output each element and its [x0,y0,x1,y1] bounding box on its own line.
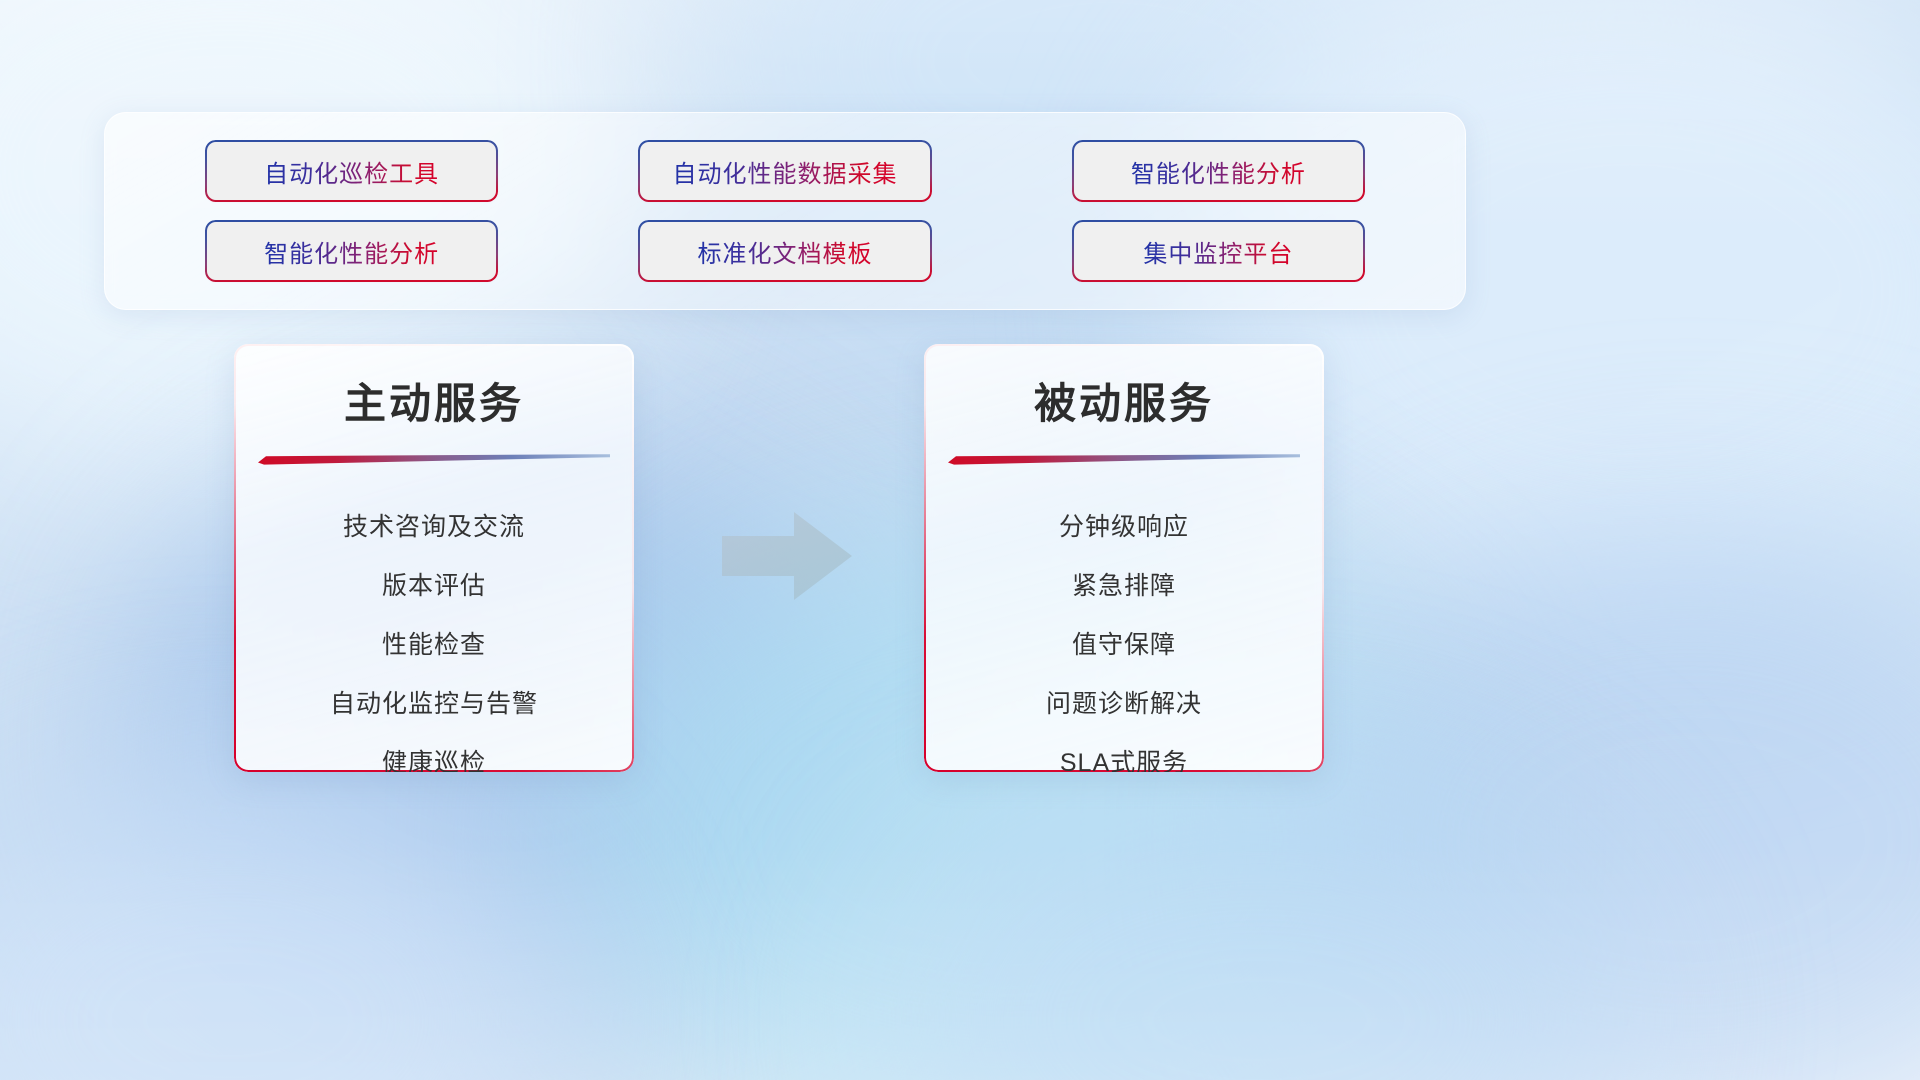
tag-label: 标准化文档模板 [697,234,872,269]
capability-tag-panel: 自动化巡检工具 自动化性能数据采集 智能化性能分析 智能化性能分析 标准化文档模… [104,112,1466,310]
tag-pill-2[interactable]: 自动化性能数据采集 [640,142,930,200]
tag-pill-5[interactable]: 标准化文档模板 [640,222,930,280]
card-title: 被动服务 [924,370,1324,431]
divider-bar-icon [948,453,1300,465]
card-divider [948,453,1300,465]
tag-pill-1[interactable]: 自动化巡检工具 [207,142,497,200]
service-card-reactive[interactable]: 被动服务 分钟级响应 紧急排障 值守保障 问题诊断解决 [924,344,1324,772]
tag-label: 自动化巡检工具 [264,154,439,189]
service-item-list: 分钟级响应 紧急排障 值守保障 问题诊断解决 SLA式服务 [924,495,1324,772]
tag-label: 智能化性能分析 [1131,154,1306,189]
list-item[interactable]: SLA式服务 [924,731,1324,772]
service-item-list: 技术咨询及交流 版本评估 性能检查 自动化监控与告警 健康巡检 [234,495,634,772]
list-item[interactable]: 性能检查 [234,613,634,672]
list-item[interactable]: 自动化监控与告警 [234,672,634,731]
arrow-right-icon [716,506,856,606]
list-item[interactable]: 健康巡检 [234,731,634,772]
card-title: 主动服务 [234,370,634,431]
list-item[interactable]: 版本评估 [234,554,634,613]
capability-tag-grid: 自动化巡检工具 自动化性能数据采集 智能化性能分析 智能化性能分析 标准化文档模… [105,113,1465,309]
tag-pill-3[interactable]: 智能化性能分析 [1073,142,1363,200]
tag-label: 智能化性能分析 [264,234,439,269]
list-item[interactable]: 紧急排障 [924,554,1324,613]
list-item[interactable]: 技术咨询及交流 [234,495,634,554]
tag-label: 集中监控平台 [1143,234,1293,269]
list-item[interactable]: 分钟级响应 [924,495,1324,554]
card-divider [258,453,610,465]
tag-pill-6[interactable]: 集中监控平台 [1073,222,1363,280]
divider-bar-icon [258,453,610,465]
list-item[interactable]: 问题诊断解决 [924,672,1324,731]
tag-label: 自动化性能数据采集 [672,154,897,189]
list-item[interactable]: 值守保障 [924,613,1324,672]
service-card-proactive[interactable]: 主动服务 技术咨询及交流 版本评估 性能检查 自动化监控与告警 [234,344,634,772]
tag-pill-4[interactable]: 智能化性能分析 [207,222,497,280]
slide-canvas: 自动化巡检工具 自动化性能数据采集 智能化性能分析 智能化性能分析 标准化文档模… [0,0,1920,1080]
